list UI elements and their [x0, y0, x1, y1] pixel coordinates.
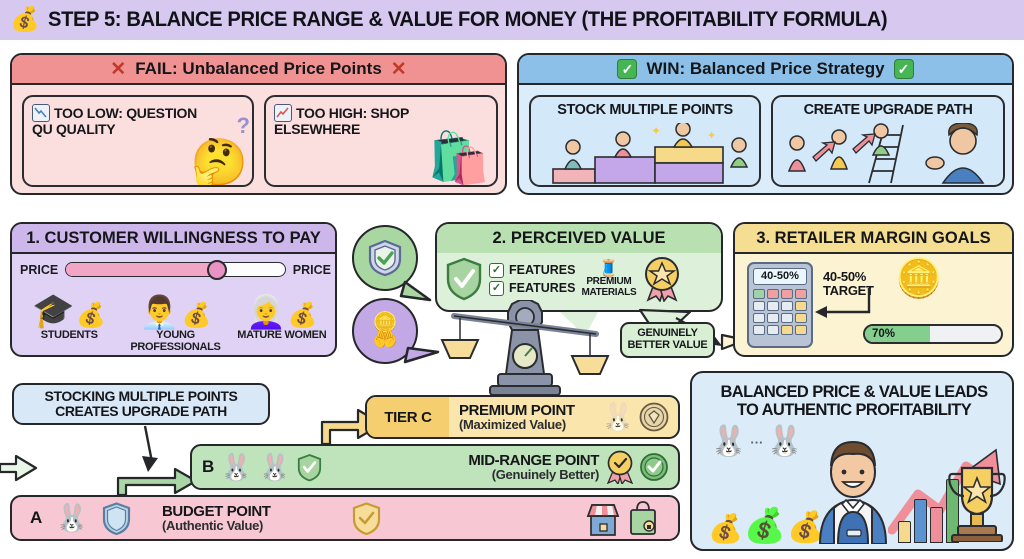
panel-perceived-value: 2. PERCEIVED VALUE ✓ FEATURES ✓ FEATURES…	[435, 222, 723, 312]
calc-key[interactable]	[767, 289, 779, 299]
green-shield-check-icon	[297, 452, 322, 483]
fail-heading-bar: ✕ FAIL: Unbalanced Price Points ✕	[12, 55, 505, 85]
calc-key[interactable]	[781, 313, 793, 323]
feature-label: FEATURES	[509, 281, 575, 295]
balance-scale-icon	[440, 300, 610, 395]
bunny-icon: 🐰	[220, 454, 252, 480]
money-bag-icon: 💰	[708, 515, 743, 543]
young-professional-icon: 👨‍💼💰	[122, 284, 228, 328]
persona-mature-women-label: MATURE WOMEN	[229, 330, 335, 342]
features-list: ✓ FEATURES ✓ FEATURES	[489, 263, 575, 296]
people-on-podium-icon: ✦ ✦	[531, 123, 759, 185]
tier-b-icons	[605, 450, 678, 484]
fail-card-too-low: TOO LOW: QUESTION QU QUALITY 🤔 ?	[22, 95, 254, 187]
callout-text: GENUINELYBETTER VALUE	[628, 328, 708, 352]
gold-star-medal-icon	[642, 256, 682, 302]
feature-item: ✓ FEATURES	[489, 263, 575, 278]
persona-row: 🎓💰 STUDENTS 👨‍💼💰 YOUNG PROFESSIONALS 👩‍🦳…	[16, 284, 335, 353]
gold-coins-stack-icon: 🪙	[895, 260, 942, 298]
blue-shield-icon	[102, 502, 131, 535]
bunny-smiling-icon: 🐰	[259, 454, 291, 480]
tier-row-mid-range[interactable]: B 🐰 🐰 MID-RANGE POINT (Genuinely Better)	[190, 444, 680, 490]
quality-shield-bubble	[352, 225, 418, 291]
question-mark-icon: ?	[237, 113, 250, 139]
fail-panel: ✕ FAIL: Unbalanced Price Points ✕ TOO LO…	[10, 53, 507, 195]
tier-c-badge: TIER C	[367, 397, 449, 437]
chart-down-icon	[32, 104, 50, 122]
price-label-right: PRICE	[293, 263, 331, 277]
gold-bunny-icon: 🐰	[601, 404, 635, 431]
calc-key[interactable]	[795, 325, 807, 335]
calc-key[interactable]	[795, 289, 807, 299]
chart-up-icon	[274, 104, 292, 122]
bunny-icon: 🐰	[55, 505, 89, 532]
tier-c-text: PREMIUM POINT (Maximized Value)	[449, 403, 601, 432]
tier-a-left-icons: A 🐰	[12, 502, 162, 535]
check-icon-right: ✓	[894, 59, 914, 79]
tier-b-subtitle: (Genuinely Better)	[322, 468, 599, 481]
checkbox-icon[interactable]: ✓	[489, 263, 504, 278]
shield-check-icon	[367, 239, 403, 277]
stocking-multiple-points-note: STOCKING MULTIPLE POINTSCREATES UPGRADE …	[12, 383, 270, 425]
price-slider-knob[interactable]	[207, 260, 227, 280]
svg-text:✦: ✦	[651, 124, 661, 138]
bar	[898, 521, 911, 543]
tier-b-text: MID-RANGE POINT (Genuinely Better)	[322, 453, 605, 482]
win-card-create-upgrade-path: CREATE UPGRADE PATH	[771, 95, 1005, 187]
tier-a-badge: A	[30, 508, 42, 528]
panel1-title: 1. CUSTOMER WILLINGNESS TO PAY	[12, 224, 335, 254]
confused-man-icon: 🤔	[191, 139, 248, 185]
persona-young-professionals-label: YOUNG PROFESSIONALS	[122, 330, 228, 353]
fail-too-low-label: TOO LOW: QUESTION QU QUALITY	[32, 104, 207, 138]
svg-text:✦: ✦	[707, 130, 716, 142]
tier-a-icons	[586, 500, 678, 536]
perceived-value-content: ✓ FEATURES ✓ FEATURES 🧵 PREMIUMMATERIALS	[445, 256, 717, 302]
win-panel: ✓ WIN: Balanced Price Strategy ✓ STOCK M…	[517, 53, 1014, 195]
result-artwork: 🐰 ··· 🐰 💰 💰 💰	[692, 431, 1014, 549]
ellipsis-icon: ···	[750, 435, 763, 450]
bar	[930, 507, 943, 543]
gold-shield-check-icon	[352, 502, 381, 535]
fail-too-high-label: TOO HIGH: SHOP ELSEWHERE	[274, 104, 449, 138]
infographic-canvas: 💰 STEP 5: BALANCE PRICE RANGE & VALUE FO…	[0, 0, 1024, 559]
calc-key[interactable]	[753, 289, 765, 299]
stock-note-text: STOCKING MULTIPLE POINTSCREATES UPGRADE …	[45, 389, 238, 420]
bunny-icon: 🐰	[710, 427, 747, 457]
green-shield-check-icon	[445, 257, 483, 301]
page-header: 💰 STEP 5: BALANCE PRICE RANGE & VALUE FO…	[0, 0, 1024, 40]
money-bag-icon: 💰	[10, 8, 40, 32]
money-bag-icon: 💰	[744, 509, 786, 543]
premium-materials-block: 🧵 PREMIUMMATERIALS	[581, 260, 636, 297]
shopping-bag-lock-icon	[628, 500, 658, 536]
margin-progress-fill: 70%	[865, 326, 930, 342]
calc-key[interactable]	[795, 313, 807, 323]
calc-key[interactable]	[767, 325, 779, 335]
panel-retailer-margin: 3. RETAILER MARGIN GOALS 40-50%	[733, 222, 1014, 357]
price-slider-fill	[66, 263, 223, 276]
tier-row-premium[interactable]: TIER C PREMIUM POINT (Maximized Value) 🐰	[365, 395, 680, 439]
tier-a-subtitle: (Authentic Value)	[162, 519, 352, 532]
page-title: STEP 5: BALANCE PRICE RANGE & VALUE FOR …	[48, 8, 887, 32]
calc-key[interactable]	[753, 301, 765, 311]
persona-students-label: STUDENTS	[16, 330, 122, 342]
calc-key[interactable]	[767, 301, 779, 311]
mature-woman-icon: 👩‍🦳💰	[229, 284, 335, 328]
panel2-title: 2. PERCEIVED VALUE	[437, 224, 721, 253]
result-title: BALANCED PRICE & VALUE LEADSTO AUTHENTIC…	[700, 383, 1008, 419]
fail-card-too-high: TOO HIGH: SHOP ELSEWHERE 🛍️	[264, 95, 498, 187]
feature-label: FEATURES	[509, 263, 575, 277]
tier-b-title: MID-RANGE POINT	[322, 453, 599, 468]
calc-key[interactable]	[781, 325, 793, 335]
persona-students: 🎓💰 STUDENTS	[16, 284, 122, 353]
tier-a-title: BUDGET POINT	[162, 504, 352, 519]
result-panel: BALANCED PRICE & VALUE LEADSTO AUTHENTIC…	[690, 371, 1014, 551]
feature-item: ✓ FEATURES	[489, 281, 575, 296]
calc-key[interactable]	[781, 301, 793, 311]
green-check-seal-icon	[639, 452, 669, 482]
panel3-title: 3. RETAILER MARGIN GOALS	[735, 224, 1012, 254]
tier-c-subtitle: (Maximized Value)	[459, 418, 601, 431]
graduate-student-icon: 🎓💰	[16, 284, 122, 328]
price-slider-row: PRICE PRICE	[20, 262, 331, 277]
price-coin-bubble: 🪙 🤲	[352, 298, 418, 364]
tier-b-badge: B	[202, 457, 214, 477]
price-slider[interactable]	[65, 262, 286, 277]
persona-mature-women: 👩‍🦳💰 MATURE WOMEN	[229, 284, 335, 353]
target-arrow-icon	[811, 286, 877, 322]
calculator-icon: 40-50%	[747, 262, 813, 348]
tier-b-left-icons: B 🐰 🐰	[192, 452, 322, 483]
cross-icon-right: ✕	[391, 58, 407, 81]
money-bags-group: 💰 💰 💰	[708, 509, 825, 543]
win-stock-label: STOCK MULTIPLE POINTS	[531, 102, 759, 118]
win-heading-text: WIN: Balanced Price Strategy	[646, 59, 884, 79]
shop-owner-icon	[810, 438, 896, 549]
win-upgrade-label: CREATE UPGRADE PATH	[773, 102, 1003, 118]
win-heading-bar: ✓ WIN: Balanced Price Strategy ✓	[519, 55, 1012, 85]
persona-young-professionals: 👨‍💼💰 YOUNG PROFESSIONALS	[122, 284, 228, 353]
tier-a-text: BUDGET POINT (Authentic Value)	[162, 504, 352, 533]
margin-progress-bar: 70%	[863, 324, 1003, 344]
people-climbing-ladder-icon	[773, 123, 1003, 185]
calculator-keys	[753, 289, 807, 335]
gold-ribbon-award-icon	[605, 450, 635, 484]
bunny-group: 🐰 ··· 🐰	[710, 427, 804, 457]
fabric-roll-icon: 🧵	[581, 260, 636, 277]
tier-row-budget[interactable]: A 🐰 BUDGET POINT (Authentic Value)	[10, 495, 680, 541]
premium-materials-label: PREMIUMMATERIALS	[581, 277, 636, 297]
calc-key[interactable]	[753, 313, 765, 323]
checkbox-icon[interactable]: ✓	[489, 281, 504, 296]
tier-c-icons: 🐰	[601, 402, 678, 432]
genuinely-better-value-callout: GENUINELYBETTER VALUE	[620, 322, 715, 358]
bunny-icon: 🐰	[766, 427, 803, 457]
storefront-icon	[586, 500, 620, 536]
calc-key[interactable]	[753, 325, 765, 335]
open-hand-icon: 🤲	[373, 330, 398, 350]
win-card-stock-multiple-points: STOCK MULTIPLE POINTS ✦ ✦	[529, 95, 761, 187]
check-icon-left: ✓	[617, 59, 637, 79]
calc-key[interactable]	[767, 313, 779, 323]
calc-key[interactable]	[781, 289, 793, 299]
diamond-seal-icon	[639, 402, 669, 432]
bar	[914, 499, 927, 543]
cross-icon-left: ✕	[110, 58, 126, 81]
price-label-left: PRICE	[20, 263, 58, 277]
calc-key[interactable]	[795, 301, 807, 311]
panel-customer-willingness: 1. CUSTOMER WILLINGNESS TO PAY PRICE PRI…	[10, 222, 337, 357]
woman-shopping-bags-icon: 🛍️	[428, 133, 490, 183]
fail-heading-text: FAIL: Unbalanced Price Points	[135, 59, 382, 79]
tier-c-title: PREMIUM POINT	[459, 403, 601, 418]
trophy-icon	[946, 462, 1008, 547]
calculator-display: 40-50%	[753, 268, 807, 285]
